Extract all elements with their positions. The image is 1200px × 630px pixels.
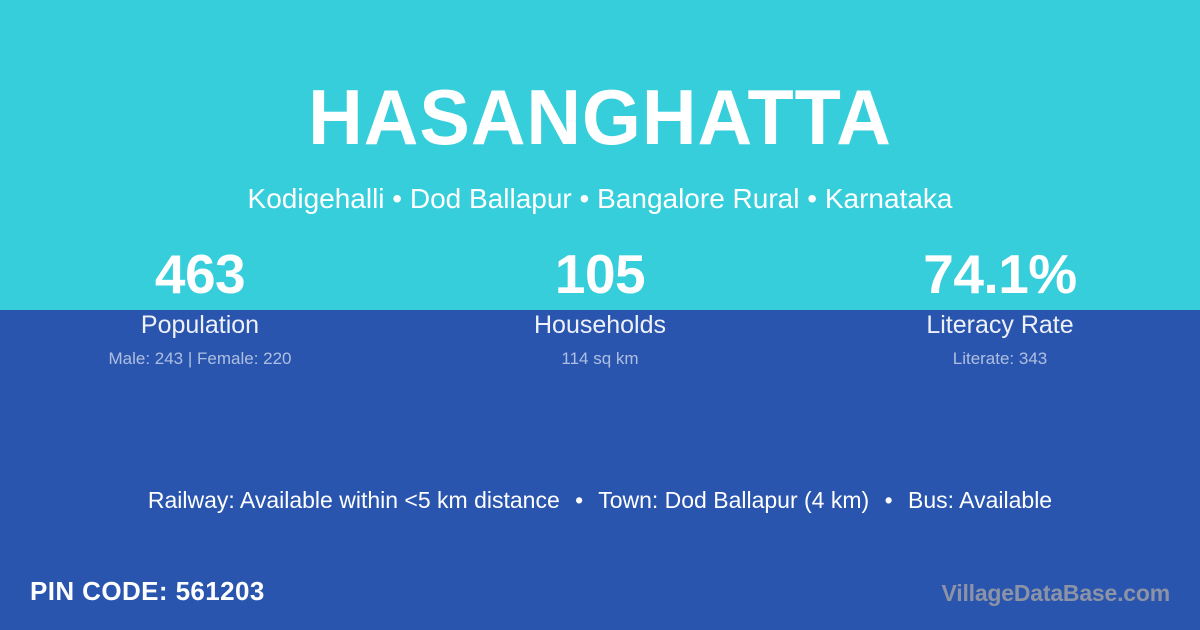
stat-sub-households: 114 sq km — [400, 348, 800, 369]
infra-bus: Bus: Available — [908, 487, 1052, 513]
stat-value-households: 105 — [400, 244, 800, 304]
infrastructure-line: Railway: Available within <5 km distance… — [0, 486, 1200, 514]
site-watermark: VillageDataBase.com — [942, 578, 1170, 608]
stat-label-literacy-rate: Literacy Rate — [800, 311, 1200, 340]
infra-separator-2: • — [876, 486, 902, 514]
breadcrumb: Kodigehalli • Dod Ballapur • Bangalore R… — [0, 182, 1200, 216]
stat-population: 463 Population Male: 243 | Female: 220 — [0, 244, 400, 369]
stat-literacy-rate: 74.1% Literacy Rate Literate: 343 — [800, 244, 1200, 369]
stat-households: 105 Households 114 sq km — [400, 244, 800, 369]
infra-railway: Railway: Available within <5 km distance — [148, 487, 560, 513]
stat-sub-population: Male: 243 | Female: 220 — [0, 348, 400, 369]
stats-row: 463 Population Male: 243 | Female: 220 1… — [0, 244, 1200, 369]
page-title: HASANGHATTA — [18, 78, 1182, 156]
stat-label-population: Population — [0, 311, 400, 340]
village-info-card: HASANGHATTA Kodigehalli • Dod Ballapur •… — [0, 0, 1200, 630]
infra-town: Town: Dod Ballapur (4 km) — [598, 487, 869, 513]
pin-code: PIN CODE: 561203 — [30, 574, 265, 608]
stat-value-population: 463 — [0, 244, 400, 304]
stat-sub-literacy-rate: Literate: 343 — [800, 348, 1200, 369]
card-footer: PIN CODE: 561203 VillageDataBase.com — [0, 572, 1200, 630]
stat-label-households: Households — [400, 311, 800, 340]
infra-separator-1: • — [566, 486, 592, 514]
stat-value-literacy-rate: 74.1% — [800, 244, 1200, 304]
